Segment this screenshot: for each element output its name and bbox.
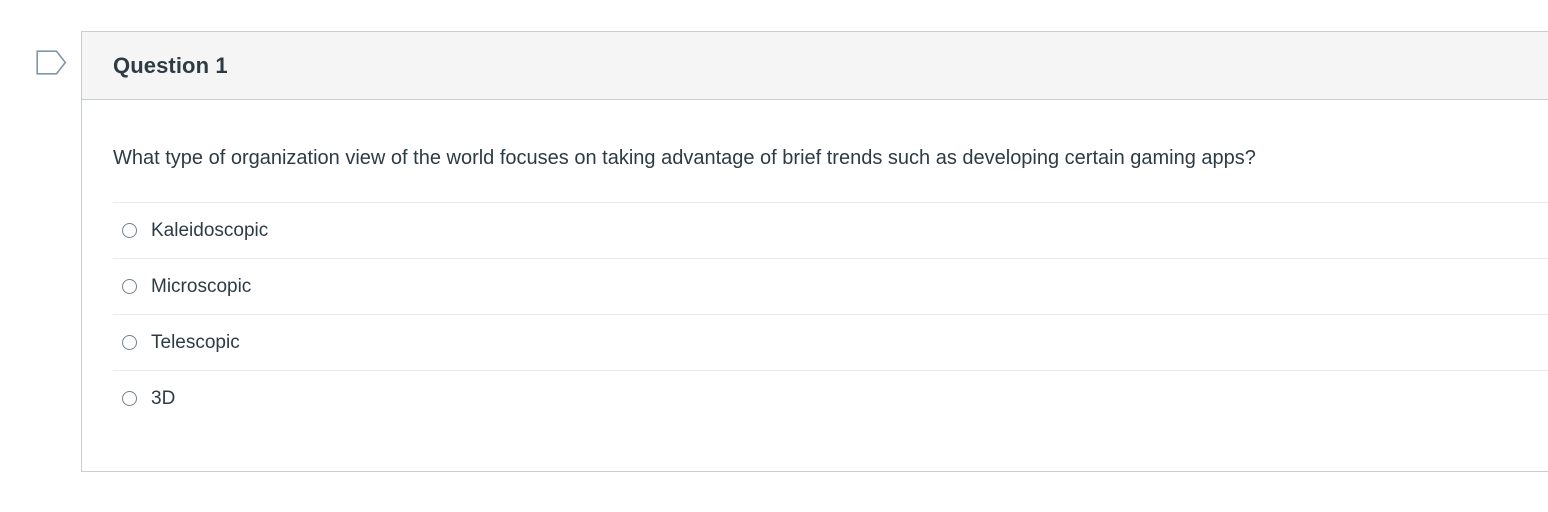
answer-option-3d[interactable]: 3D bbox=[113, 370, 1548, 426]
answer-label: Kaleidoscopic bbox=[151, 220, 268, 242]
answer-label: Microscopic bbox=[151, 276, 251, 298]
answers-list: Kaleidoscopic Microscopic Telescopic 3D bbox=[82, 202, 1548, 426]
radio-unchecked-icon[interactable] bbox=[122, 279, 137, 294]
radio-unchecked-icon[interactable] bbox=[122, 335, 137, 350]
question-body: What type of organization view of the wo… bbox=[82, 100, 1548, 426]
answer-option-telescopic[interactable]: Telescopic bbox=[113, 314, 1548, 370]
flag-outline-icon bbox=[36, 50, 67, 75]
answer-option-kaleidoscopic[interactable]: Kaleidoscopic bbox=[113, 202, 1548, 258]
question-flag-icon[interactable] bbox=[36, 50, 67, 75]
answer-label: 3D bbox=[151, 388, 175, 410]
radio-unchecked-icon[interactable] bbox=[122, 391, 137, 406]
answer-option-microscopic[interactable]: Microscopic bbox=[113, 258, 1548, 314]
question-header: Question 1 bbox=[82, 32, 1548, 100]
answer-label: Telescopic bbox=[151, 332, 240, 354]
radio-unchecked-icon[interactable] bbox=[122, 223, 137, 238]
question-card: Question 1 What type of organization vie… bbox=[81, 31, 1548, 472]
page-title: Question 1 bbox=[113, 53, 228, 79]
question-prompt: What type of organization view of the wo… bbox=[82, 100, 1548, 202]
